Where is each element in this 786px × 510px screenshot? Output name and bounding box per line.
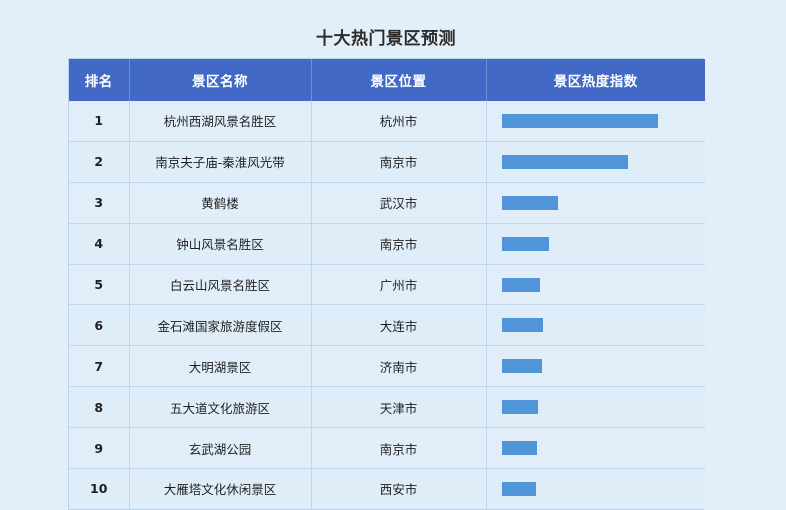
heat-bar-track [487,428,706,468]
cell-heat-index [486,264,705,305]
table-row[interactable]: 8五大道文化旅游区天津市 [69,387,705,428]
rank-table-container: 排名 景区名称 景区位置 景区热度指数 1杭州西湖风景名胜区杭州市2南京夫子庙-… [68,58,704,510]
cell-heat-index [486,305,705,346]
cell-scenic-name: 黄鹤楼 [129,182,311,223]
table-row[interactable]: 9玄武湖公园南京市 [69,428,705,469]
heat-bar-fill [502,237,549,251]
hot-scenic-spots-table: 排名 景区名称 景区位置 景区热度指数 1杭州西湖风景名胜区杭州市2南京夫子庙-… [69,59,705,509]
heat-bar-track [487,265,706,305]
cell-rank: 4 [69,223,129,264]
heat-bar-track [487,101,706,141]
cell-rank: 2 [69,141,129,182]
table-row[interactable]: 6金石滩国家旅游度假区大连市 [69,305,705,346]
cell-location: 大连市 [311,305,486,346]
heat-bar-track [487,346,706,386]
cell-location: 济南市 [311,346,486,387]
page-title: 十大热门景区预测 [68,27,704,51]
cell-location: 天津市 [311,387,486,428]
column-header-heat: 景区热度指数 [486,59,705,101]
table-row[interactable]: 1杭州西湖风景名胜区杭州市 [69,101,705,141]
cell-location: 西安市 [311,469,486,509]
heat-bar-track [487,142,706,182]
cell-heat-index [486,346,705,387]
cell-scenic-name: 玄武湖公园 [129,428,311,469]
heat-bar-fill [502,441,537,455]
cell-heat-index [486,141,705,182]
cell-location: 南京市 [311,223,486,264]
cell-location: 杭州市 [311,101,486,141]
cell-rank: 8 [69,387,129,428]
cell-location: 广州市 [311,264,486,305]
table-row[interactable]: 2南京夫子庙-秦淮风光带南京市 [69,141,705,182]
cell-scenic-name: 白云山风景名胜区 [129,264,311,305]
cell-scenic-name: 五大道文化旅游区 [129,387,311,428]
heat-bar-fill [502,318,543,332]
cell-heat-index [486,428,705,469]
heat-bar-track [487,469,706,509]
heat-bar-fill [502,155,628,169]
heat-bar-track [487,387,706,427]
cell-heat-index [486,182,705,223]
table-row[interactable]: 3黄鹤楼武汉市 [69,182,705,223]
table-row[interactable]: 10大雁塔文化休闲景区西安市 [69,469,705,509]
cell-location: 南京市 [311,141,486,182]
heat-bar-fill [502,114,658,128]
column-header-name: 景区名称 [129,59,311,101]
cell-rank: 6 [69,305,129,346]
cell-rank: 1 [69,101,129,141]
cell-scenic-name: 金石滩国家旅游度假区 [129,305,311,346]
cell-rank: 3 [69,182,129,223]
heat-bar-track [487,183,706,223]
cell-rank: 10 [69,469,129,509]
cell-heat-index [486,387,705,428]
cell-scenic-name: 钟山风景名胜区 [129,223,311,264]
heat-bar-fill [502,196,558,210]
cell-scenic-name: 杭州西湖风景名胜区 [129,101,311,141]
heat-bar-fill [502,482,536,496]
cell-scenic-name: 大明湖景区 [129,346,311,387]
column-header-rank: 排名 [69,59,129,101]
cell-heat-index [486,469,705,509]
table-header-row: 排名 景区名称 景区位置 景区热度指数 [69,59,705,101]
cell-scenic-name: 大雁塔文化休闲景区 [129,469,311,509]
cell-heat-index [486,101,705,141]
cell-location: 南京市 [311,428,486,469]
heat-bar-fill [502,400,538,414]
table-row[interactable]: 4钟山风景名胜区南京市 [69,223,705,264]
table-row[interactable]: 7大明湖景区济南市 [69,346,705,387]
table-row[interactable]: 5白云山风景名胜区广州市 [69,264,705,305]
heat-bar-fill [502,359,542,373]
cell-scenic-name: 南京夫子庙-秦淮风光带 [129,141,311,182]
cell-heat-index [486,223,705,264]
cell-rank: 9 [69,428,129,469]
cell-rank: 5 [69,264,129,305]
cell-location: 武汉市 [311,182,486,223]
heat-bar-track [487,305,706,345]
table-header: 排名 景区名称 景区位置 景区热度指数 [69,59,705,101]
cell-rank: 7 [69,346,129,387]
heat-bar-fill [502,278,540,292]
heat-bar-track [487,224,706,264]
column-header-location: 景区位置 [311,59,486,101]
table-body: 1杭州西湖风景名胜区杭州市2南京夫子庙-秦淮风光带南京市3黄鹤楼武汉市4钟山风景… [69,101,705,509]
